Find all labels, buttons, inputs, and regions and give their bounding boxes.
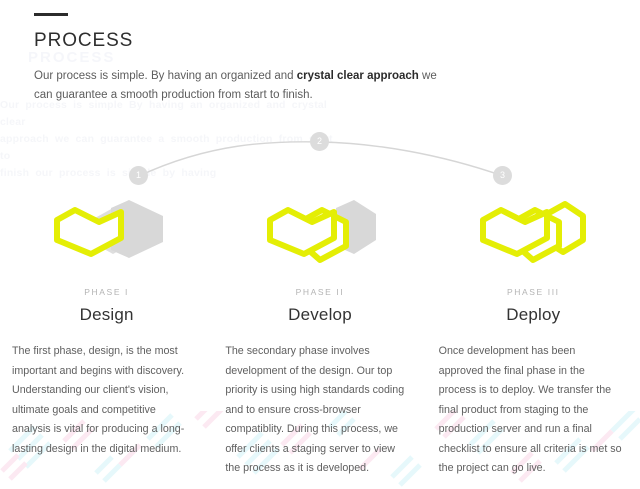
progress-step-1-number: 1: [136, 170, 141, 180]
phase-label-3: PHASE III: [507, 287, 560, 297]
phase-columns: PHASE I Design The first phase, design, …: [0, 199, 640, 489]
phase-body-2: The secondary phase involves development…: [225, 342, 414, 479]
phase-label-1: PHASE I: [84, 287, 129, 297]
progress-step-1[interactable]: 1: [129, 166, 148, 185]
intro-text-before: Our process is simple. By having an orga…: [34, 70, 297, 82]
progress-step-3[interactable]: 3: [493, 166, 512, 185]
phase-title-2: Develop: [288, 305, 352, 325]
phase-body-3: Once development has been approved the f…: [439, 342, 628, 479]
phase-column-design: PHASE I Design The first phase, design, …: [0, 199, 213, 489]
isometric-cube-two-yellow-icon: [264, 199, 376, 267]
phase-column-develop: PHASE II Develop The secondary phase inv…: [213, 199, 426, 489]
phase-label-2: PHASE II: [296, 287, 345, 297]
phase-title-3: Deploy: [506, 305, 560, 325]
phase-body-1: The first phase, design, is the most imp…: [12, 342, 201, 459]
isometric-cube-three-yellow-icon: [477, 199, 589, 267]
page-title: PROCESS: [34, 30, 606, 52]
intro-text-bold: crystal clear approach: [297, 70, 419, 82]
progress-step-3-number: 3: [500, 170, 505, 180]
progress-step-2-number: 2: [317, 136, 322, 146]
phase-column-deploy: PHASE III Deploy Once development has be…: [427, 199, 640, 489]
isometric-cube-one-yellow-icon: [51, 199, 163, 267]
intro-paragraph: Our process is simple. By having an orga…: [34, 67, 438, 105]
progress-curve: 1 2 3: [0, 121, 640, 201]
progress-step-2[interactable]: 2: [310, 132, 329, 151]
title-rule-divider: [34, 13, 68, 16]
phase-title-1: Design: [80, 305, 134, 325]
process-section-header: PROCESS Our process is simple. By having…: [0, 13, 640, 105]
